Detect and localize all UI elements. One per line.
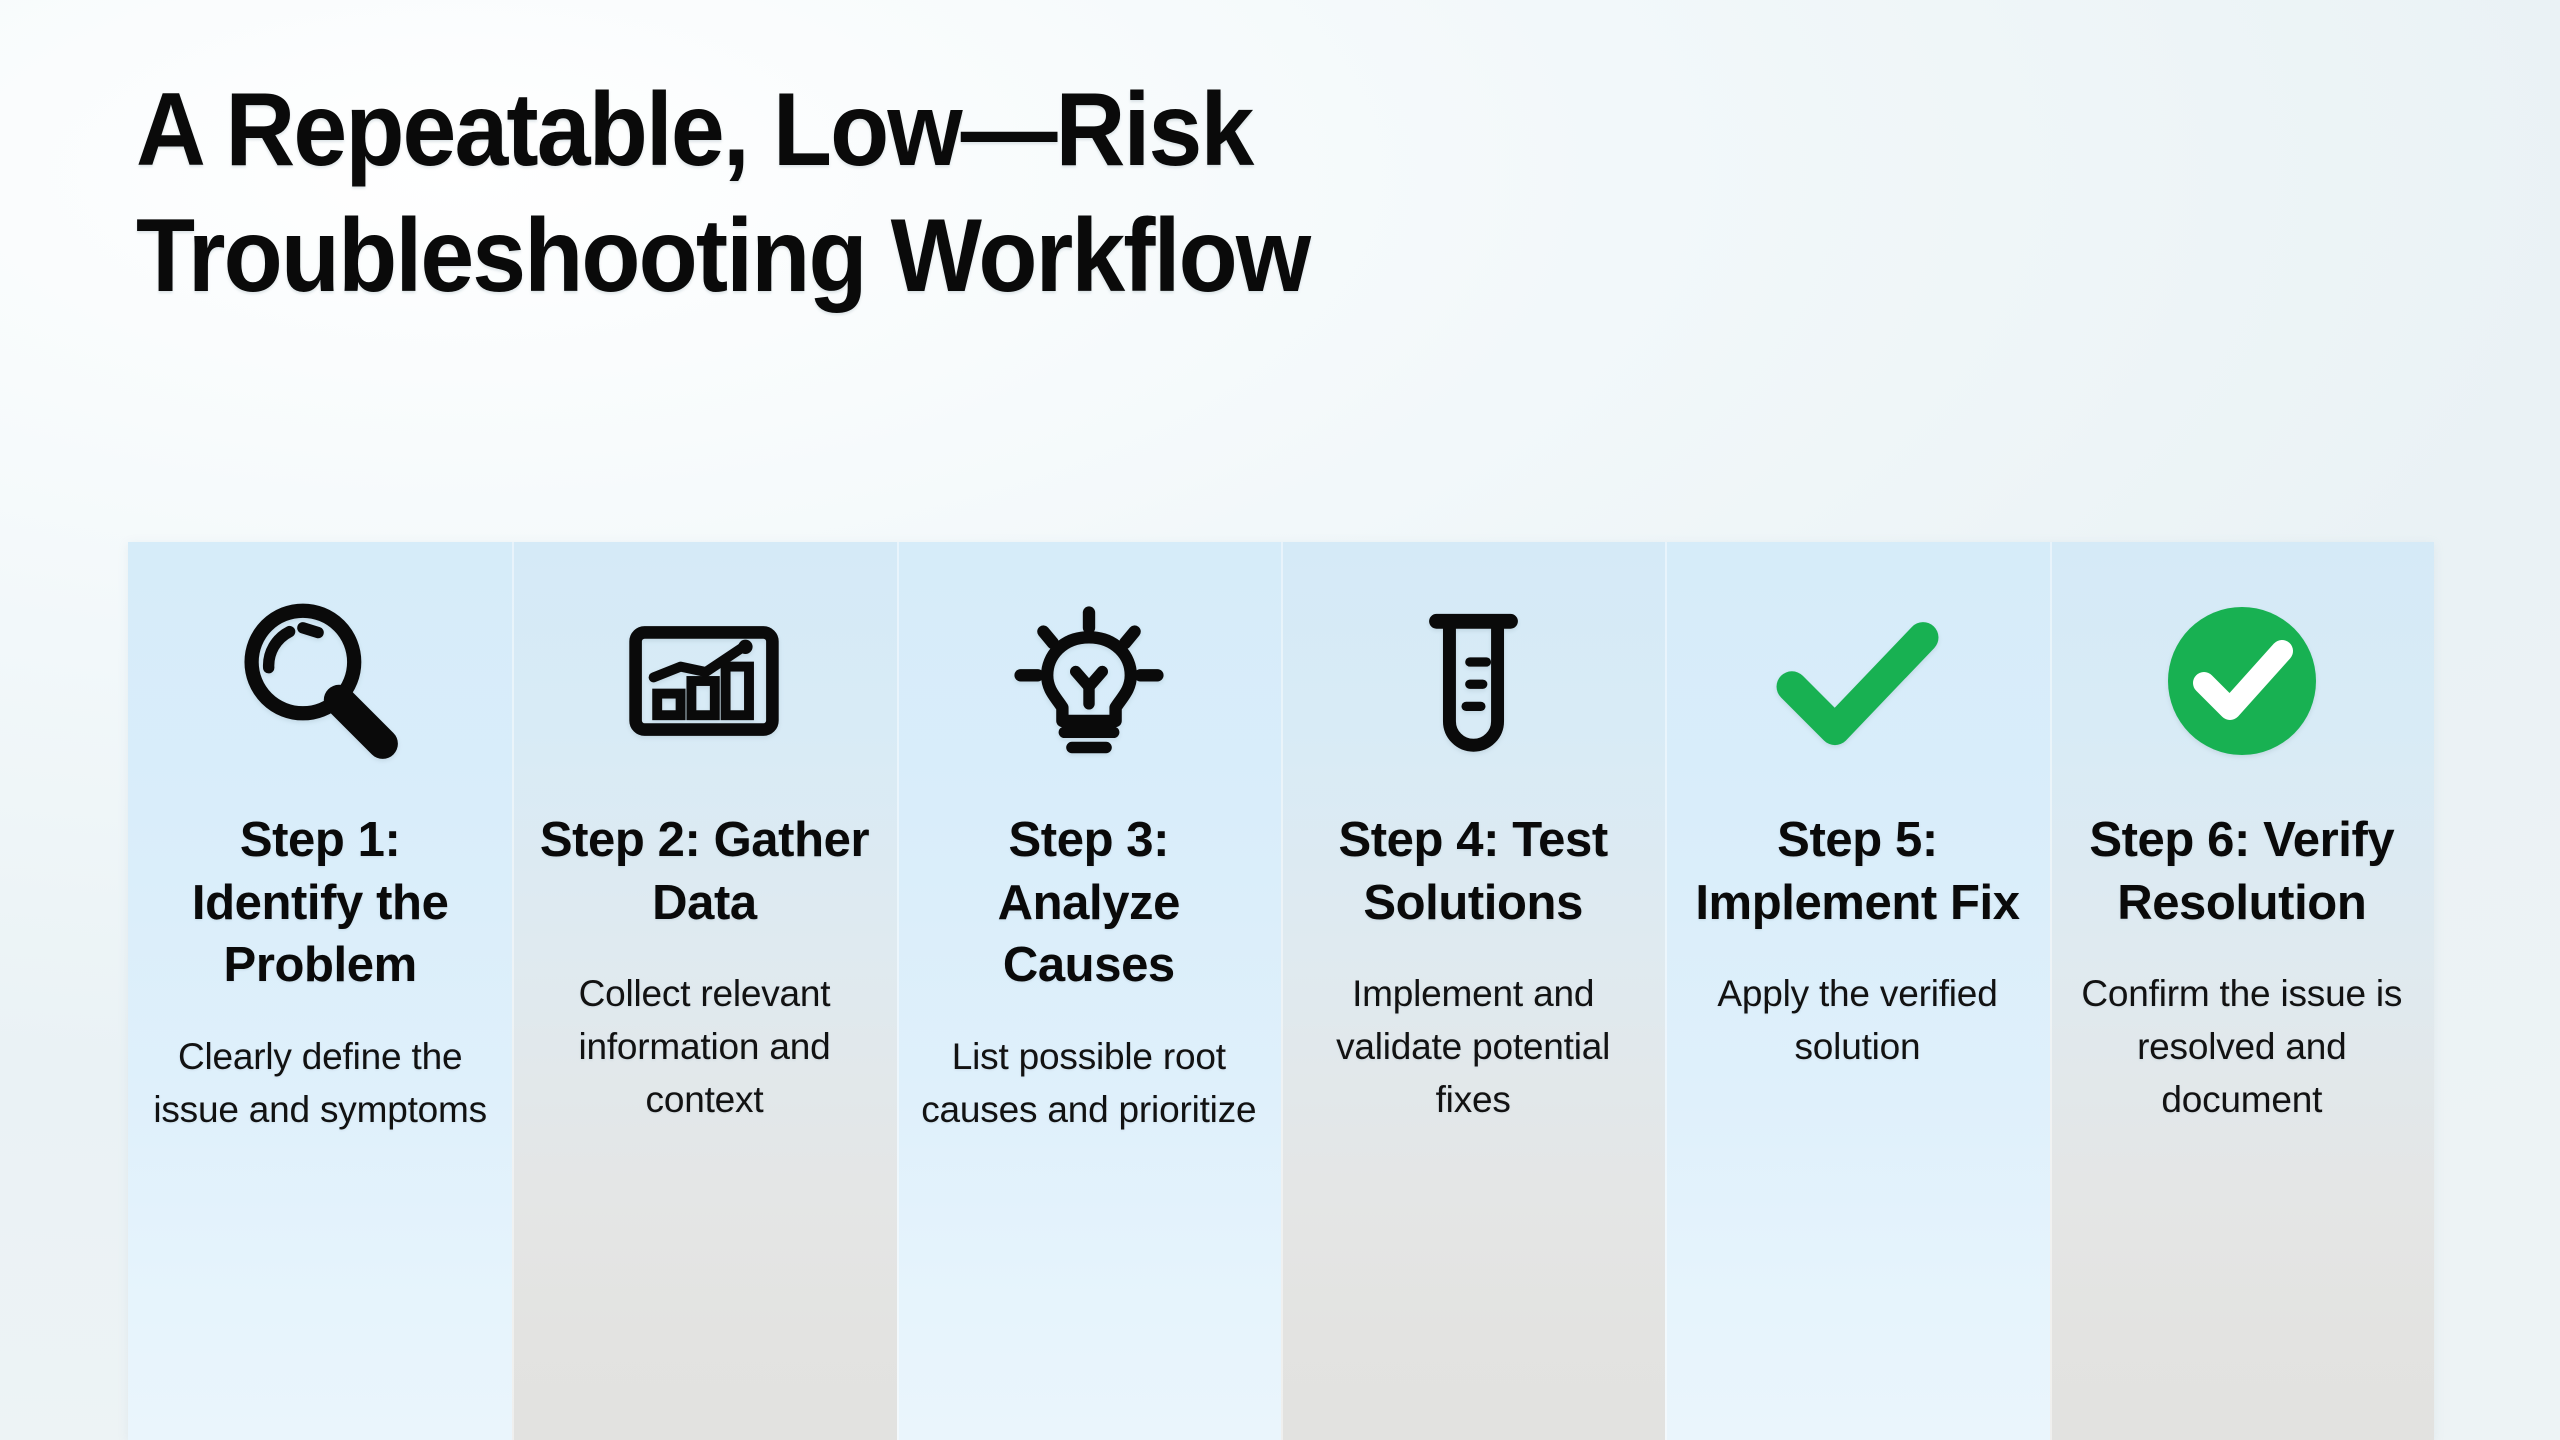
magnifier-icon xyxy=(225,578,415,783)
step-description: Collect relevant information and context xyxy=(532,968,877,1126)
step-title: Step 3: Analyze Causes xyxy=(924,809,1254,997)
step-description: List possible root causes and prioritize xyxy=(916,1031,1261,1136)
step-title: Step 4: Test Solutions xyxy=(1308,809,1638,934)
step-title: Step 6: Verify Resolution xyxy=(2077,809,2407,934)
step-title: Step 5: Implement Fix xyxy=(1692,809,2022,934)
step-description: Confirm the issue is resolved and docume… xyxy=(2069,968,2414,1126)
green-checkmark-icon xyxy=(1755,578,1960,783)
step-description: Apply the verified solution xyxy=(1685,968,2030,1073)
step-title: Step 1: Identify the Problem xyxy=(155,809,485,997)
page-title: A Repeatable, Low—Risk Troubleshooting W… xyxy=(136,78,1936,308)
step-card-3[interactable]: Step 3: Analyze Causes List possible roo… xyxy=(897,542,1281,1440)
step-card-4[interactable]: Step 4: Test Solutions Implement and val… xyxy=(1281,542,1665,1440)
bar-chart-icon xyxy=(614,578,794,783)
lightbulb-icon xyxy=(994,578,1184,783)
step-description: Implement and validate potential fixes xyxy=(1301,968,1646,1126)
workflow-steps-panel: Step 1: Identify the Problem Clearly def… xyxy=(128,542,2434,1440)
test-tube-icon xyxy=(1381,578,1566,783)
step-card-5[interactable]: Step 5: Implement Fix Apply the verified… xyxy=(1665,542,2049,1440)
step-title: Step 2: Gather Data xyxy=(539,809,869,934)
page-title-line-1: A Repeatable, Low—Risk xyxy=(136,78,1810,182)
step-card-1[interactable]: Step 1: Identify the Problem Clearly def… xyxy=(128,542,512,1440)
step-card-6[interactable]: Step 6: Verify Resolution Confirm the is… xyxy=(2050,542,2434,1440)
step-description: Clearly define the issue and symptoms xyxy=(148,1031,493,1136)
green-check-circle-icon xyxy=(2142,578,2342,783)
step-card-2[interactable]: Step 2: Gather Data Collect relevant inf… xyxy=(512,542,896,1440)
page-title-line-2: Troubleshooting Workflow xyxy=(136,204,1810,308)
